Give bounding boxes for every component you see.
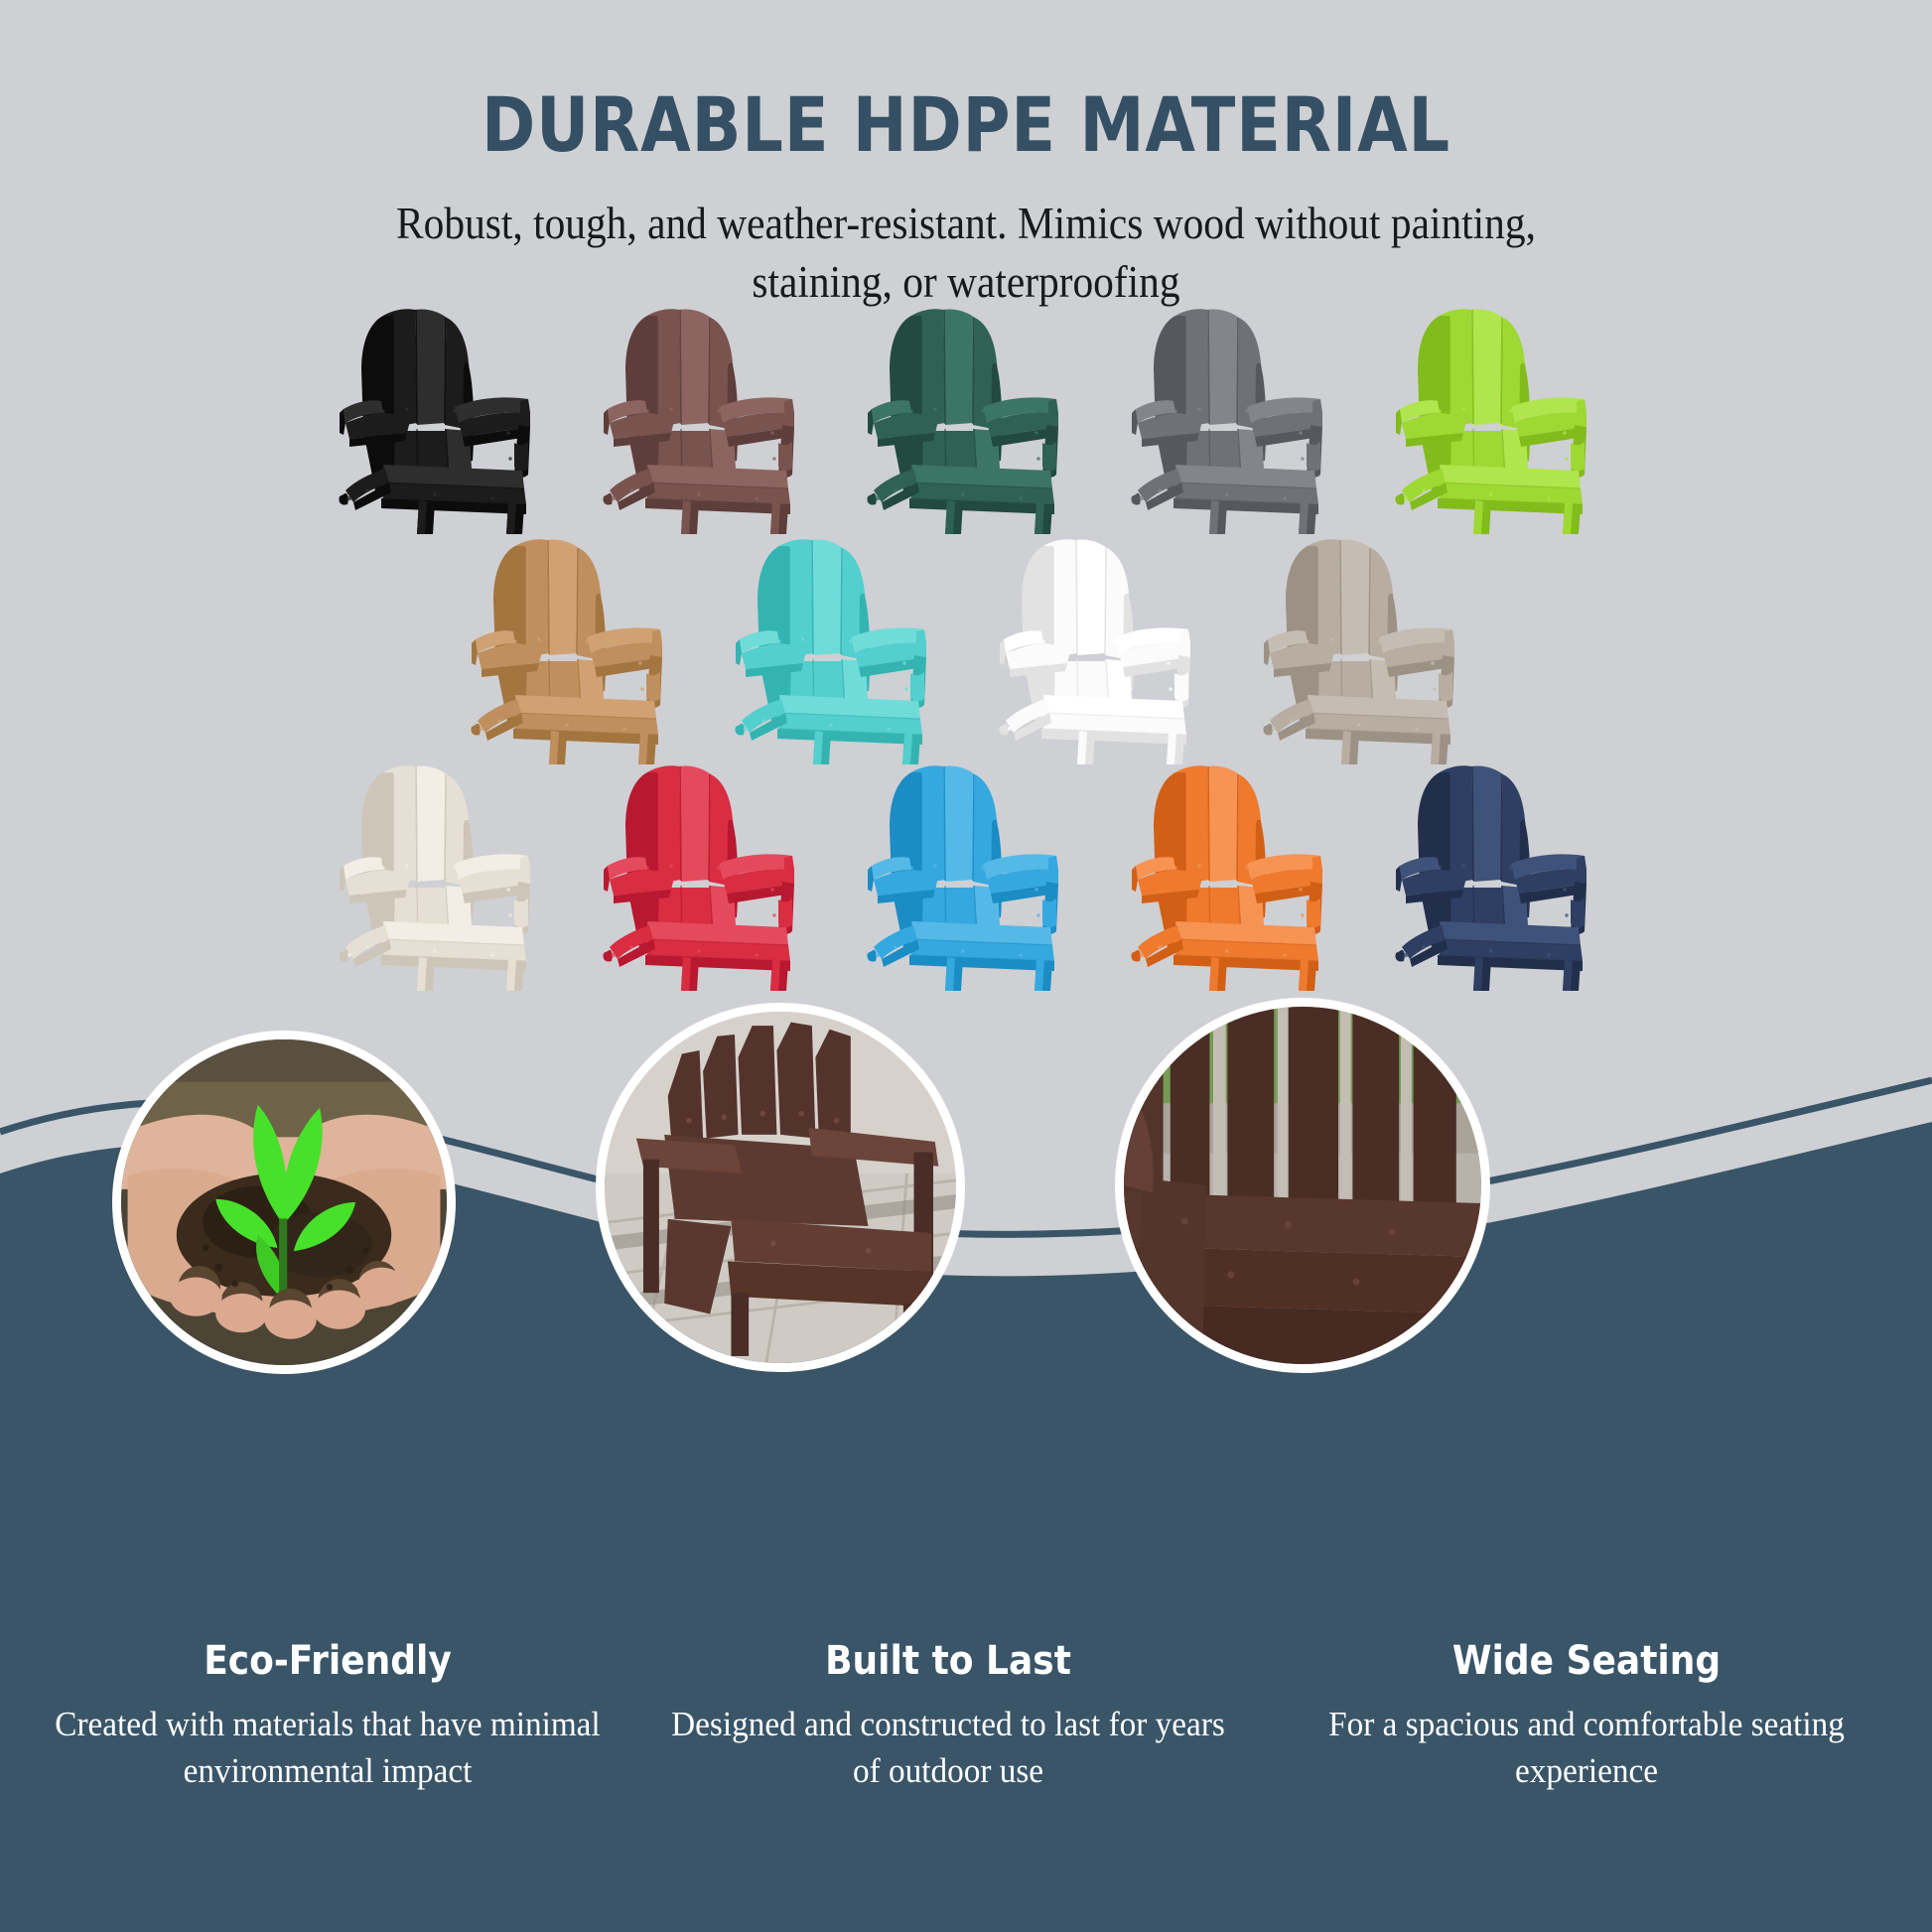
chair-row-2 [0,524,1932,762]
chair-ivory-graphic [324,751,552,991]
chair-rear-leg [681,957,699,991]
chair-rear-leg [417,957,435,991]
chair-row-3 [0,751,1932,989]
chair-seat [513,695,658,745]
chair-gray-graphic [1116,294,1344,534]
feature-eco-friendly: Eco-Friendly Created with materials that… [20,1638,635,1794]
feature-description: For a spacious and comfortable seating e… [1277,1702,1895,1794]
chair-turquoise[interactable] [702,524,966,762]
chair-seat [777,695,922,745]
page-title: DURABLE HDPE MATERIAL [135,85,1797,165]
chair-seat [1041,695,1186,745]
chair-teak-graphic [456,524,684,764]
closeup-wide-chair-seat-slats-icon [1124,1007,1481,1364]
feature-built-to-last: Built to Last Designed and constructed t… [640,1638,1256,1794]
chair-lime-green-graphic [1380,294,1608,534]
feature-photo-built-to-last [596,1003,965,1372]
feature-wide-seating: Wide Seating For a spacious and comforta… [1261,1638,1912,1794]
feature-photo-eco-friendly [112,1031,456,1374]
chair-red[interactable] [570,751,834,989]
chair-red-graphic [588,751,816,991]
chair-seat [1438,465,1583,514]
chair-seat [1306,695,1450,745]
chair-seat [645,921,790,971]
chair-front-leg [1035,959,1052,991]
chair-orange[interactable] [1098,751,1362,989]
chair-beige-graphic [1248,524,1476,764]
chair-rear-leg [1473,957,1491,991]
chair-navy-blue[interactable] [1362,751,1626,989]
chair-seat [1173,921,1318,971]
chair-brown[interactable] [570,294,834,532]
chair-teak[interactable] [438,524,702,762]
chair-seat [645,465,790,514]
chair-gray[interactable] [1098,294,1362,532]
chair-seat [909,921,1054,971]
chair-front-leg [1563,959,1581,991]
chair-row-1 [0,294,1932,532]
chair-dark-green[interactable] [834,294,1098,532]
chair-white[interactable] [966,524,1230,762]
chair-light-blue-graphic [852,751,1080,991]
chair-navy-blue-graphic [1380,751,1608,991]
infographic-canvas: DURABLE HDPE MATERIAL Robust, tough, and… [0,0,1932,1932]
chair-black[interactable] [306,294,570,532]
chair-light-blue[interactable] [834,751,1098,989]
chair-beige[interactable] [1230,524,1494,762]
chair-front-leg [1299,959,1316,991]
chair-front-leg [506,959,524,991]
chair-seat [909,465,1054,514]
chair-white-graphic [984,524,1212,764]
chair-front-leg [770,959,788,991]
feature-title: Eco-Friendly [51,1638,605,1684]
chair-rear-leg [945,957,963,991]
chair-seat [381,921,526,971]
chair-rear-leg [1209,957,1227,991]
header: DURABLE HDPE MATERIAL Robust, tough, and… [0,85,1932,313]
feature-title: Wide Seating [1294,1638,1879,1684]
chair-turquoise-graphic [720,524,948,764]
chair-orange-graphic [1116,751,1344,991]
brown-adirondack-chair-on-patio-icon [605,1012,956,1363]
feature-title: Built to Last [671,1638,1225,1684]
feature-description: Created with materials that have minimal… [36,1702,621,1794]
chair-brown-graphic [588,294,816,534]
chair-seat [381,465,526,514]
chair-dark-green-graphic [852,294,1080,534]
chair-black-graphic [324,294,552,534]
chair-seat [1173,465,1318,514]
hands-holding-soil-seedling-icon [121,1039,447,1365]
chair-ivory[interactable] [306,751,570,989]
chair-seat [1438,921,1583,971]
chair-lime-green[interactable] [1362,294,1626,532]
feature-description: Designed and constructed to last for yea… [656,1702,1241,1794]
feature-photo-wide-seating [1115,998,1490,1373]
